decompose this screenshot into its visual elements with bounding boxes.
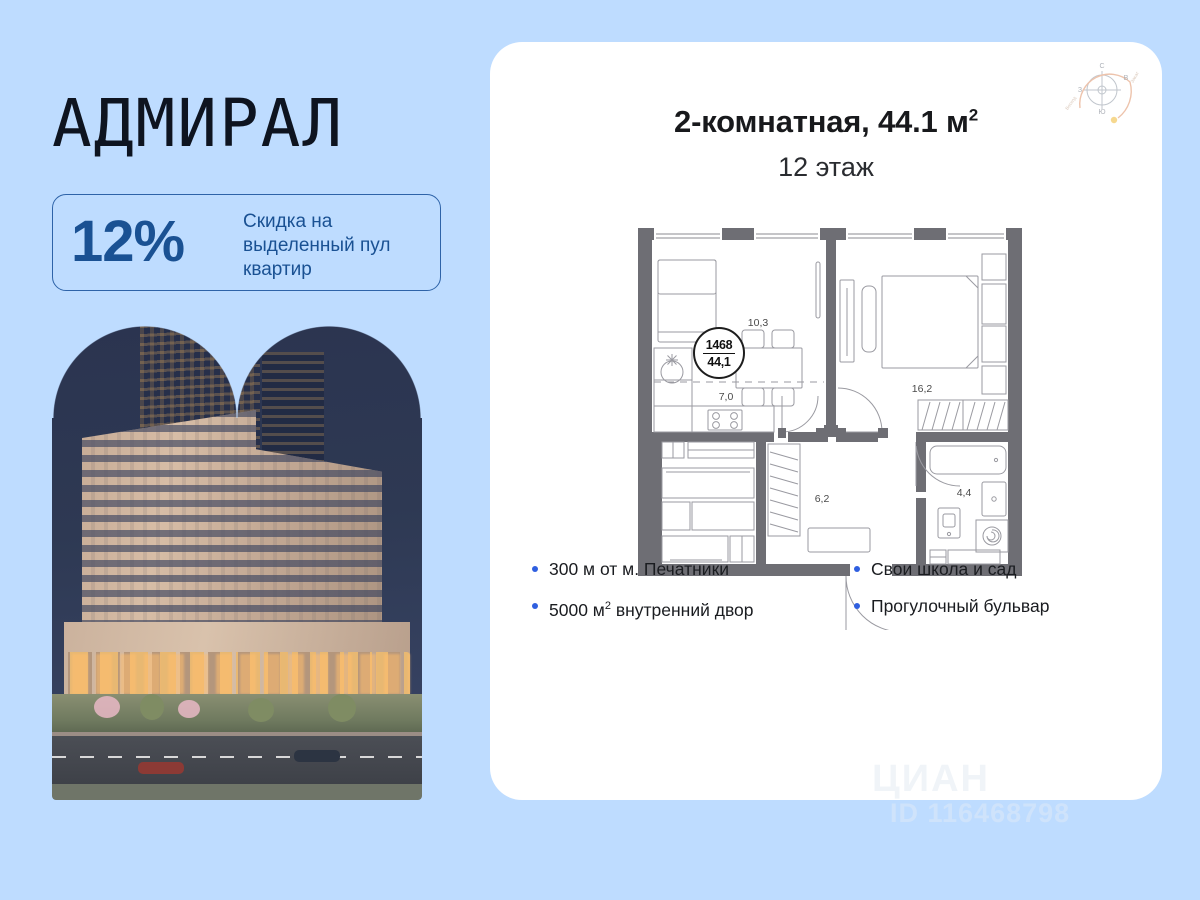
watermark-id: ID 116468798 (890, 798, 1070, 829)
feature-text: 5000 м (549, 600, 605, 620)
foreground-verge (52, 784, 422, 800)
car-dark (294, 750, 340, 762)
watermark-brand: ЦИАН (872, 758, 990, 801)
feature-text: Прогулочный бульвар (871, 596, 1049, 616)
compass-west-label: З (1078, 87, 1082, 94)
feature-item: Свои школа и сад (854, 557, 1134, 581)
floor-plan-card: 2-комнатная, 44.1 м2 12 этаж С В Ю З Вос… (490, 42, 1162, 800)
apartment-number: 1468 (695, 338, 743, 352)
badge-divider (703, 353, 735, 354)
compass-north-label: С (1099, 63, 1104, 70)
discount-badge: 12% Скидка на выделенный пул квартир (52, 194, 441, 291)
plan-title-superscript: 2 (969, 106, 978, 125)
features-column-left: 300 м от м. Печатники 5000 м2 внутренний… (532, 557, 852, 635)
feature-text: 300 м от м. Печатники (549, 559, 729, 579)
car-red (138, 762, 184, 774)
road-marking (52, 756, 422, 758)
room-area-hallway: 6,2 (815, 493, 830, 505)
bullet-icon (854, 566, 860, 572)
green-tree (328, 694, 356, 722)
green-tree (248, 698, 274, 722)
bullet-icon (854, 603, 860, 609)
green-tree (140, 694, 164, 720)
feature-item: 5000 м2 внутренний двор (532, 594, 852, 622)
apartment-badge: 1468 44,1 (693, 327, 745, 379)
plan-floor-label: 12 этаж (490, 152, 1162, 183)
road (52, 736, 422, 784)
features-column-right: Свои школа и сад Прогулочный бульвар (854, 557, 1134, 631)
feature-text: Свои школа и сад (871, 559, 1017, 579)
feature-item: 300 м от м. Печатники (532, 557, 852, 581)
bullet-icon (532, 566, 538, 572)
bullet-icon (532, 603, 538, 609)
plan-title-text: 2-комнатная, 44.1 м (674, 104, 969, 139)
compass-south-label: Ю (1098, 109, 1105, 116)
feature-item: Прогулочный бульвар (854, 594, 1134, 618)
discount-description: Скидка на выделенный пул квартир (243, 210, 433, 282)
blossom-tree (178, 700, 200, 718)
feature-text-tail: внутренний двор (611, 600, 754, 620)
room-area-bathroom: 4,4 (957, 487, 972, 499)
room-area-kitchen: 7,0 (719, 391, 734, 403)
compass-east-label: В (1124, 75, 1129, 82)
arcade-light-glow (64, 654, 410, 694)
blossom-tree (94, 696, 120, 718)
compass-sunset-label: Закат (1130, 70, 1141, 84)
compass-rose-icon: С В Ю З Восход Закат (1060, 56, 1144, 134)
brand-title: АДМИРАЛ (52, 88, 452, 160)
compass-sunrise-label: Восход (1064, 95, 1077, 111)
room-area-living: 10,3 (748, 317, 769, 329)
apartment-area: 44,1 (695, 355, 743, 369)
building-photo (52, 322, 422, 800)
discount-value: 12% (71, 206, 184, 278)
room-area-bedroom: 16,2 (912, 383, 933, 395)
promo-panel: АДМИРАЛ 12% Скидка на выделенный пул ква… (0, 0, 478, 900)
